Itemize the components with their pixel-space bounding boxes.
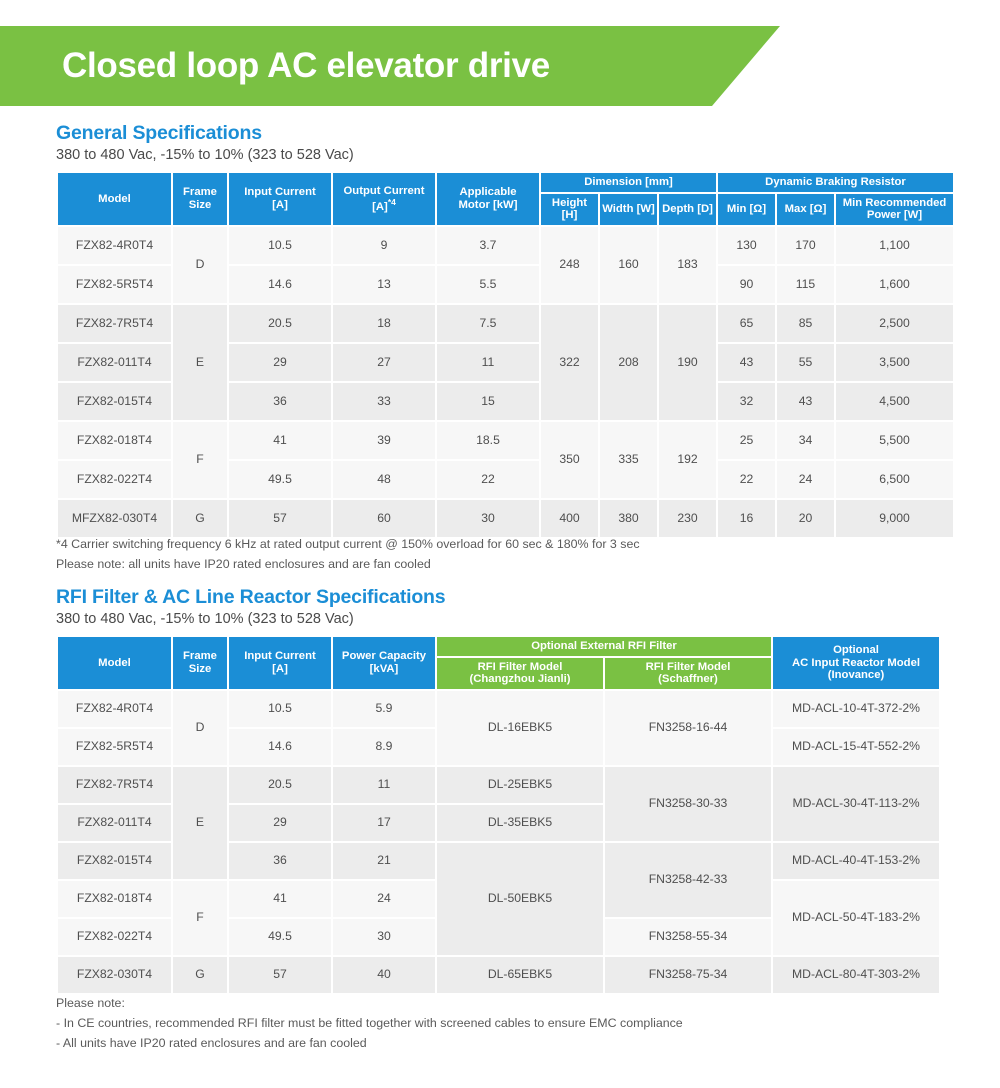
cell-output-current: 60	[333, 500, 435, 537]
cell-depth: 190	[659, 305, 716, 420]
th-applicable-motor: Applicable Motor [kW]	[437, 173, 539, 225]
table-row: FZX82-030T4G5740DL-65EBK5FN3258-75-34MD-…	[58, 957, 939, 993]
page-banner: Closed loop AC elevator drive	[0, 26, 780, 106]
table-row: FZX82-018T4F413918.535033519225345,500	[58, 422, 953, 459]
rfi-note-1: - In CE countries, recommended RFI filte…	[56, 1013, 683, 1033]
cell-frame-size: D	[173, 227, 227, 303]
th-applicable-motor-line2: Motor [kW]	[459, 199, 518, 211]
th-rfi-power-capacity-line2: [kVA]	[370, 663, 399, 675]
cell-rfi-model: FZX82-018T4	[58, 881, 171, 917]
cell-applicable-motor: 11	[437, 344, 539, 381]
rfi-table-body: FZX82-4R0T4D10.55.9DL-16EBK5FN3258-16-44…	[58, 691, 939, 993]
rfi-specifications-title: RFI Filter & AC Line Reactor Specificati…	[56, 586, 941, 609]
cell-rfi-power-capacity: 17	[333, 805, 435, 841]
cell-rfi-power-capacity: 30	[333, 919, 435, 955]
cell-height: 400	[541, 500, 598, 537]
cell-output-current: 9	[333, 227, 435, 264]
cell-rfi-model: FZX82-030T4	[58, 957, 171, 993]
cell-width: 380	[600, 500, 657, 537]
table-header-row-top: Model Frame Size Input Current [A] Outpu…	[58, 173, 953, 192]
th-rfi-power-capacity-line1: Power Capacity	[342, 650, 426, 662]
cell-width: 160	[600, 227, 657, 303]
table-row: FZX82-7R5T4E20.511DL-25EBK5FN3258-30-33M…	[58, 767, 939, 803]
cell-rfi-model: FZX82-022T4	[58, 919, 171, 955]
th-output-current: Output Current [A]*4	[333, 173, 435, 225]
cell-height: 248	[541, 227, 598, 303]
cell-input-current: 49.5	[229, 461, 331, 498]
th-rfi-input-current-line1: Input Current	[244, 650, 316, 662]
cell-applicable-motor: 30	[437, 500, 539, 537]
cell-rfi-input-current: 57	[229, 957, 331, 993]
cell-rfi-filter-jianli: DL-25EBK5	[437, 767, 603, 803]
cell-model: FZX82-7R5T4	[58, 305, 171, 342]
cell-applicable-motor: 7.5	[437, 305, 539, 342]
cell-rfi-frame-size: D	[173, 691, 227, 765]
general-specifications-title: General Specifications	[56, 122, 955, 145]
cell-model: FZX82-022T4	[58, 461, 171, 498]
table-row: FZX82-4R0T4D10.593.72481601831301701,100	[58, 227, 953, 264]
cell-rfi-power-capacity: 11	[333, 767, 435, 803]
general-note-0: *4 Carrier switching frequency 6 kHz at …	[56, 534, 640, 554]
cell-ac-input-reactor: MD-ACL-40-4T-153-2%	[773, 843, 939, 879]
cell-input-current: 57	[229, 500, 331, 537]
cell-output-current: 39	[333, 422, 435, 459]
cell-rfi-power-capacity: 5.9	[333, 691, 435, 727]
th-min-power-line2: Power [W]	[867, 209, 922, 221]
cell-input-current: 20.5	[229, 305, 331, 342]
cell-depth: 192	[659, 422, 716, 498]
general-specifications-section: General Specifications 380 to 480 Vac, -…	[56, 122, 955, 539]
th-min-ohm: Min [Ω]	[718, 194, 775, 225]
cell-min-recommended-power: 4,500	[836, 383, 953, 420]
th-min-recommended-power: Min Recommended Power [W]	[836, 194, 953, 225]
cell-min-recommended-power: 1,600	[836, 266, 953, 303]
cell-rfi-input-current: 49.5	[229, 919, 331, 955]
cell-rfi-power-capacity: 24	[333, 881, 435, 917]
cell-min-ohm: 22	[718, 461, 775, 498]
cell-max-ohm: 20	[777, 500, 834, 537]
th-frame-size-line2: Size	[189, 199, 212, 211]
cell-rfi-input-current: 10.5	[229, 691, 331, 727]
th-reactor-line2: AC Input Reactor Model	[792, 657, 920, 669]
cell-rfi-input-current: 29	[229, 805, 331, 841]
cell-min-ohm: 25	[718, 422, 775, 459]
cell-rfi-filter-jianli: DL-65EBK5	[437, 957, 603, 993]
cell-rfi-power-capacity: 21	[333, 843, 435, 879]
cell-ac-input-reactor: MD-ACL-15-4T-552-2%	[773, 729, 939, 765]
cell-min-recommended-power: 5,500	[836, 422, 953, 459]
th-input-current: Input Current [A]	[229, 173, 331, 225]
general-table-body: FZX82-4R0T4D10.593.72481601831301701,100…	[58, 227, 953, 537]
cell-min-recommended-power: 6,500	[836, 461, 953, 498]
cell-applicable-motor: 5.5	[437, 266, 539, 303]
th-rfi-frame-size-line1: Frame	[183, 650, 217, 662]
cell-applicable-motor: 3.7	[437, 227, 539, 264]
cell-rfi-filter-jianli: DL-50EBK5	[437, 843, 603, 955]
th-output-current-line2: [A]	[372, 200, 388, 212]
th-rfi-frame-size-line2: Size	[189, 663, 212, 675]
cell-ac-input-reactor: MD-ACL-50-4T-183-2%	[773, 881, 939, 955]
cell-min-ohm: 43	[718, 344, 775, 381]
th-schaffner-line2: (Schaffner)	[658, 673, 718, 685]
cell-model: FZX82-018T4	[58, 422, 171, 459]
th-frame-size: Frame Size	[173, 173, 227, 225]
th-dynamic-braking-resistor-group: Dynamic Braking Resistor	[718, 173, 953, 192]
th-rfi-filter-model-schaffner: RFI Filter Model (Schaffner)	[605, 658, 771, 689]
cell-output-current: 33	[333, 383, 435, 420]
cell-rfi-model: FZX82-4R0T4	[58, 691, 171, 727]
cell-input-current: 10.5	[229, 227, 331, 264]
cell-min-ohm: 90	[718, 266, 775, 303]
cell-input-current: 29	[229, 344, 331, 381]
cell-rfi-filter-jianli: DL-16EBK5	[437, 691, 603, 765]
cell-output-current: 13	[333, 266, 435, 303]
cell-rfi-filter-jianli: DL-35EBK5	[437, 805, 603, 841]
th-rfi-input-current: Input Current [A]	[229, 637, 331, 689]
cell-rfi-model: FZX82-015T4	[58, 843, 171, 879]
cell-input-current: 41	[229, 422, 331, 459]
cell-min-ohm: 130	[718, 227, 775, 264]
cell-width: 208	[600, 305, 657, 420]
th-frame-size-line1: Frame	[183, 186, 217, 198]
cell-frame-size: E	[173, 305, 227, 420]
general-specifications-table: Model Frame Size Input Current [A] Outpu…	[56, 171, 955, 539]
cell-rfi-frame-size: F	[173, 881, 227, 955]
cell-ac-input-reactor: MD-ACL-30-4T-113-2%	[773, 767, 939, 841]
th-input-current-line1: Input Current	[244, 186, 316, 198]
cell-applicable-motor: 15	[437, 383, 539, 420]
cell-min-ohm: 65	[718, 305, 775, 342]
cell-max-ohm: 24	[777, 461, 834, 498]
cell-rfi-power-capacity: 8.9	[333, 729, 435, 765]
th-input-current-line2: [A]	[272, 199, 288, 211]
th-depth: Depth [D]	[659, 194, 716, 225]
cell-output-current: 48	[333, 461, 435, 498]
cell-max-ohm: 55	[777, 344, 834, 381]
cell-max-ohm: 43	[777, 383, 834, 420]
cell-max-ohm: 115	[777, 266, 834, 303]
page-title: Closed loop AC elevator drive	[62, 26, 550, 106]
th-max-ohm: Max [Ω]	[777, 194, 834, 225]
rfi-specifications-notes: Please note: - In CE countries, recommen…	[56, 993, 683, 1053]
spec-sheet-page: Closed loop AC elevator drive General Sp…	[0, 0, 1000, 1088]
cell-rfi-input-current: 20.5	[229, 767, 331, 803]
cell-max-ohm: 85	[777, 305, 834, 342]
rfi-specifications-section: RFI Filter & AC Line Reactor Specificati…	[56, 586, 941, 995]
cell-rfi-filter-schaffner: FN3258-16-44	[605, 691, 771, 765]
cell-width: 335	[600, 422, 657, 498]
rfi-note-2: - All units have IP20 rated enclosures a…	[56, 1033, 683, 1053]
th-rfi-power-capacity: Power Capacity [kVA]	[333, 637, 435, 689]
cell-output-current: 27	[333, 344, 435, 381]
table-row: FZX82-7R5T4E20.5187.532220819065852,500	[58, 305, 953, 342]
cell-rfi-input-current: 36	[229, 843, 331, 879]
th-model: Model	[58, 173, 171, 225]
cell-applicable-motor: 18.5	[437, 422, 539, 459]
th-reactor-line3: (Inovance)	[828, 669, 885, 681]
cell-min-recommended-power: 3,500	[836, 344, 953, 381]
th-output-current-footnote-marker: *4	[388, 197, 396, 207]
cell-rfi-filter-schaffner: FN3258-75-34	[605, 957, 771, 993]
cell-frame-size: F	[173, 422, 227, 498]
cell-applicable-motor: 22	[437, 461, 539, 498]
cell-model: MFZX82-030T4	[58, 500, 171, 537]
cell-rfi-input-current: 14.6	[229, 729, 331, 765]
cell-input-current: 14.6	[229, 266, 331, 303]
cell-rfi-input-current: 41	[229, 881, 331, 917]
rfi-specifications-subtitle: 380 to 480 Vac, -15% to 10% (323 to 528 …	[56, 611, 941, 627]
cell-output-current: 18	[333, 305, 435, 342]
cell-input-current: 36	[229, 383, 331, 420]
cell-min-recommended-power: 2,500	[836, 305, 953, 342]
cell-min-ohm: 16	[718, 500, 775, 537]
cell-max-ohm: 34	[777, 422, 834, 459]
cell-rfi-frame-size: E	[173, 767, 227, 879]
cell-model: FZX82-011T4	[58, 344, 171, 381]
th-dimension-group: Dimension [mm]	[541, 173, 716, 192]
cell-rfi-filter-schaffner: FN3258-55-34	[605, 919, 771, 955]
th-rfi-input-current-line2: [A]	[272, 663, 288, 675]
cell-max-ohm: 170	[777, 227, 834, 264]
cell-min-ohm: 32	[718, 383, 775, 420]
cell-depth: 183	[659, 227, 716, 303]
general-specifications-subtitle: 380 to 480 Vac, -15% to 10% (323 to 528 …	[56, 147, 955, 163]
cell-min-recommended-power: 1,100	[836, 227, 953, 264]
general-note-1: Please note: all units have IP20 rated e…	[56, 554, 640, 574]
cell-height: 350	[541, 422, 598, 498]
th-rfi-filter-model-jianli: RFI Filter Model (Changzhou Jianli)	[437, 658, 603, 689]
th-height: Height [H]	[541, 194, 598, 225]
th-optional-external-rfi-filter-group: Optional External RFI Filter	[437, 637, 771, 656]
cell-model: FZX82-5R5T4	[58, 266, 171, 303]
th-optional-ac-input-reactor: Optional AC Input Reactor Model (Inovanc…	[773, 637, 939, 689]
th-schaffner-line1: RFI Filter Model	[646, 661, 731, 673]
table-row: FZX82-4R0T4D10.55.9DL-16EBK5FN3258-16-44…	[58, 691, 939, 727]
cell-rfi-filter-schaffner: FN3258-30-33	[605, 767, 771, 841]
th-width: Width [W]	[600, 194, 657, 225]
cell-ac-input-reactor: MD-ACL-80-4T-303-2%	[773, 957, 939, 993]
th-rfi-model: Model	[58, 637, 171, 689]
cell-rfi-power-capacity: 40	[333, 957, 435, 993]
cell-ac-input-reactor: MD-ACL-10-4T-372-2%	[773, 691, 939, 727]
general-specifications-notes: *4 Carrier switching frequency 6 kHz at …	[56, 534, 640, 574]
cell-model: FZX82-015T4	[58, 383, 171, 420]
table-row: MFZX82-030T4G57603040038023016209,000	[58, 500, 953, 537]
cell-rfi-frame-size: G	[173, 957, 227, 993]
rfi-note-0: Please note:	[56, 993, 683, 1013]
cell-frame-size: G	[173, 500, 227, 537]
rfi-table-header-row-top: Model Frame Size Input Current [A] Power…	[58, 637, 939, 656]
cell-height: 322	[541, 305, 598, 420]
rfi-specifications-table: Model Frame Size Input Current [A] Power…	[56, 635, 941, 995]
cell-rfi-model: FZX82-011T4	[58, 805, 171, 841]
th-applicable-motor-line1: Applicable	[459, 186, 516, 198]
th-jianli-line2: (Changzhou Jianli)	[469, 673, 570, 685]
cell-rfi-model: FZX82-7R5T4	[58, 767, 171, 803]
cell-min-recommended-power: 9,000	[836, 500, 953, 537]
th-rfi-frame-size: Frame Size	[173, 637, 227, 689]
cell-model: FZX82-4R0T4	[58, 227, 171, 264]
cell-depth: 230	[659, 500, 716, 537]
th-output-current-line1: Output Current	[344, 185, 425, 197]
th-min-power-line1: Min Recommended	[843, 197, 947, 209]
th-reactor-line1: Optional	[833, 644, 879, 656]
cell-rfi-filter-schaffner: FN3258-42-33	[605, 843, 771, 917]
th-jianli-line1: RFI Filter Model	[478, 661, 563, 673]
cell-rfi-model: FZX82-5R5T4	[58, 729, 171, 765]
